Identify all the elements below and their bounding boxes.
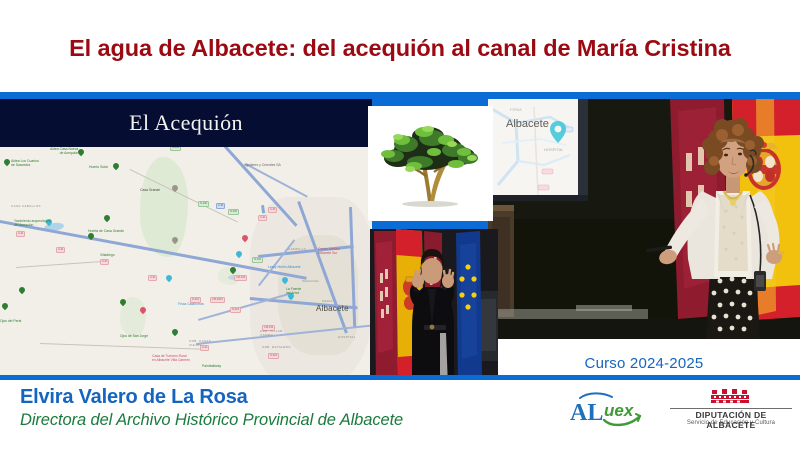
map-pin[interactable] <box>236 251 242 259</box>
speaker-role: Directora del Archivo Histórico Provinci… <box>20 411 403 430</box>
svg-text:FERIA: FERIA <box>510 107 522 112</box>
map-label: Casa de Turismo Ruralen Albacete Villa C… <box>152 354 190 362</box>
map-pin[interactable] <box>120 299 126 307</box>
map-label: Ojos del Peral <box>0 319 21 323</box>
map-pin[interactable] <box>4 159 10 167</box>
road-shield: N-322 <box>230 307 241 313</box>
map-road <box>261 205 265 213</box>
road-shield: A-31 <box>100 259 109 265</box>
map-pin[interactable] <box>104 215 110 223</box>
map-green-area <box>140 157 188 257</box>
map-label: Casa Grande <box>140 188 160 192</box>
map-canvas[interactable]: A-31 A-31 A-31 A-31 N-430 A-31 N-430 N-4… <box>0 147 372 375</box>
diputacion-logo[interactable]: DIPUTACIÓN DE ALBACETE Servicio de Educa… <box>670 388 792 430</box>
map-pin[interactable] <box>172 237 178 245</box>
map-label: HOSPITAL <box>338 335 356 339</box>
map-pin[interactable] <box>113 163 119 171</box>
map-label: IMAGINAL <box>302 279 320 283</box>
road-shield: CM-3203 <box>210 297 225 303</box>
road-shield: N-430 <box>170 147 181 151</box>
map-label: CASA CABALLOS <box>11 204 41 208</box>
sign-language-interpreter-photo <box>370 229 498 375</box>
map-label: URB. ESTALERO <box>262 345 291 349</box>
map-pin[interactable] <box>242 235 248 243</box>
road-shield: A-31 <box>268 207 277 213</box>
road-shield: A-31 <box>148 275 157 281</box>
map-label: Huerto Solar <box>89 165 108 169</box>
map-label: Aldea Los Cuartosde Saavedra <box>11 159 39 167</box>
map-label: URB. VILLARCAMPO <box>260 329 283 337</box>
road-shield: A-31 <box>56 247 65 253</box>
svg-text:Albacete: Albacete <box>506 118 549 130</box>
map-road <box>16 261 106 268</box>
map-pin[interactable] <box>78 149 84 157</box>
content-frame: El Acequión <box>0 92 800 380</box>
map-label: CAMPILLO <box>288 247 306 251</box>
map-pin[interactable] <box>166 275 172 283</box>
speaker-block: Elvira Valero de La Rosa Directora del A… <box>20 386 403 430</box>
road-shield: N-430 <box>228 209 239 215</box>
aluex-logo-icon: AL uex <box>568 390 656 428</box>
map-pin[interactable] <box>172 185 178 193</box>
footer-logos: AL uex <box>568 388 792 430</box>
map-label: Huerta de Casa Grande <box>88 229 124 233</box>
map-road <box>40 343 200 350</box>
map-pin[interactable] <box>172 329 178 337</box>
map-label: Centro MédicoAlbacete Sur <box>318 247 340 255</box>
map-label: La Fuentedel Arbol <box>286 287 301 295</box>
footer: Elvira Valero de La Rosa Directora del A… <box>0 380 800 450</box>
map-pin[interactable] <box>230 267 236 275</box>
map-label: FERIA <box>322 299 333 303</box>
map-label: Paintballway <box>202 364 221 368</box>
speaker-name: Elvira Valero de La Rosa <box>20 386 403 409</box>
map-label: Finca Calahorras <box>178 302 204 306</box>
acequion-header-label: El Acequión <box>129 110 243 136</box>
map-pin[interactable] <box>140 307 146 315</box>
diputacion-divider <box>670 408 792 409</box>
acequion-header: El Acequión <box>0 99 372 147</box>
map-pin[interactable] <box>2 303 8 311</box>
map-label-city: Albacete <box>316 307 349 311</box>
curso-label: Curso 2024-2025 <box>585 355 704 372</box>
road-shield: N-430 <box>198 201 209 207</box>
aluex-uex-text: uex <box>604 401 635 420</box>
road-shield: A-31 <box>16 231 25 237</box>
map-pin[interactable] <box>88 233 94 241</box>
road-shield: N-430 <box>252 257 263 263</box>
tree-illustration-card <box>368 106 493 221</box>
map-label: Aldea Casa Nuevade Acequión <box>50 147 78 155</box>
road-shield: A-31 <box>258 215 267 221</box>
content-inner: El Acequión <box>0 99 800 375</box>
svg-text:HOSPITAL: HOSPITAL <box>544 147 564 152</box>
map-label: Aguilares y Cereales SA <box>244 163 281 167</box>
speaker-stage-photo: FERIA Albacete HOSPITAL <box>488 99 800 339</box>
slide-title-bar: El agua de Albacete: del acequión al can… <box>0 0 800 92</box>
map-pin[interactable] <box>19 287 25 295</box>
acequion-map-panel: El Acequión <box>0 99 372 375</box>
road-shield: CM-332 <box>234 275 247 281</box>
curso-band: Curso 2024-2025 <box>488 339 800 375</box>
map-label: Villadiego <box>100 253 115 257</box>
map-label: Yacimiento arqueológicodel Acequión <box>14 219 51 227</box>
map-label: Leroy Merlin Albacete <box>268 265 301 269</box>
stage-scene: FERIA Albacete HOSPITAL <box>488 99 800 339</box>
page-title: El agua de Albacete: del acequión al can… <box>69 31 731 62</box>
map-label: Ojos de San Jorge <box>120 334 148 338</box>
aluex-al-text: AL <box>570 400 603 426</box>
diputacion-crest-icon <box>670 388 792 408</box>
aluex-logo[interactable]: AL uex <box>568 390 656 428</box>
map-label: URB. CASASVIEJAS <box>189 339 211 347</box>
road-shield: N-322 <box>268 353 279 359</box>
interpreter-scene <box>370 229 498 375</box>
tree-icon <box>368 106 493 221</box>
road-shield: A-31 <box>216 203 225 209</box>
diputacion-subtitle: Servicio de Educación y Cultura <box>670 420 792 426</box>
map-pin[interactable] <box>282 277 288 285</box>
